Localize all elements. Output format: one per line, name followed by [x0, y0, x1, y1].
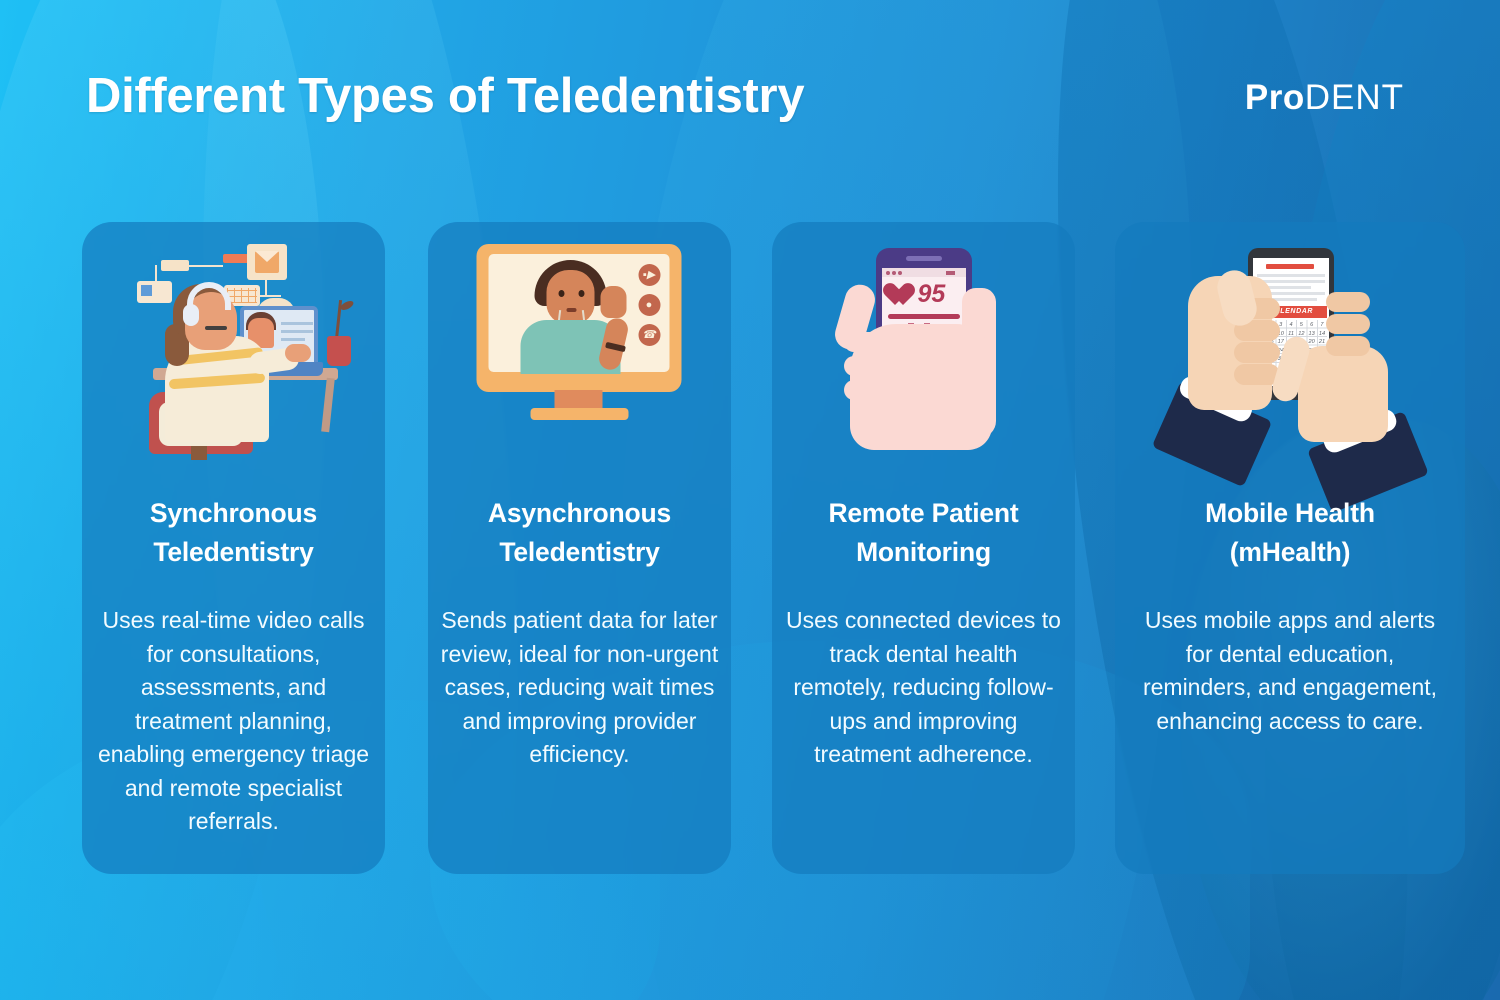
card-description: Uses mobile apps and alerts for dental e… — [1137, 604, 1443, 738]
heart-rate-value: 95 — [918, 280, 946, 309]
card-illustration — [82, 240, 385, 470]
hand-phone-heart-rate-icon: 95 — [834, 240, 1014, 455]
calendar-day: 5 — [1296, 321, 1306, 330]
card-title-line-1: Mobile Health — [1205, 498, 1375, 528]
card-title-line-1: Synchronous — [150, 498, 317, 528]
heart-icon — [889, 284, 915, 308]
card-title: Remote Patient Monitoring — [780, 494, 1067, 572]
card-illustration: 95 — [772, 240, 1075, 470]
card-asynchronous-teledentistry[interactable]: ▪▶ ● ☎ Asynchronous Teledentistry Sends … — [428, 222, 731, 874]
card-illustration: ▪▶ ● ☎ — [428, 240, 731, 470]
card-title: Asynchronous Teledentistry — [436, 494, 723, 572]
card-title: Synchronous Teledentistry — [90, 494, 377, 572]
desktop-video-call-icon: ▪▶ ● ☎ — [472, 240, 687, 430]
card-illustration: CALENDAR 1234567891011121314151617181920… — [1115, 240, 1465, 470]
woman-headset-laptop-icon — [109, 240, 359, 455]
card-title-line-1: Asynchronous — [488, 498, 671, 528]
calendar-day: 13 — [1307, 330, 1317, 339]
camera-icon: ▪▶ — [638, 264, 660, 286]
card-title-line-2: Monitoring — [856, 537, 991, 567]
card-title-line-2: Teledentistry — [153, 537, 313, 567]
brand-logo-pro: Pro — [1245, 78, 1305, 117]
calendar-day: 14 — [1317, 330, 1327, 339]
microphone-icon: ● — [638, 294, 660, 316]
card-title-line-2: Teledentistry — [499, 537, 659, 567]
card-synchronous-teledentistry[interactable]: Synchronous Teledentistry Uses real-time… — [82, 222, 385, 874]
brand-logo: ProDENT — [1245, 78, 1404, 118]
phone-icon: ☎ — [638, 324, 660, 346]
card-remote-patient-monitoring[interactable]: 95 Remote Patient Monitoring Uses connec… — [772, 222, 1075, 874]
calendar-day: 4 — [1286, 321, 1296, 330]
header: Different Types of Teledentistry ProDENT — [0, 0, 1500, 200]
card-title-line-1: Remote Patient — [828, 498, 1018, 528]
calendar-day: 6 — [1307, 321, 1317, 330]
card-title: Mobile Health (mHealth) — [1123, 494, 1457, 572]
page-title: Different Types of Teledentistry — [86, 68, 804, 124]
card-grid: Synchronous Teledentistry Uses real-time… — [0, 222, 1500, 874]
card-description: Uses real-time video calls for consultat… — [94, 604, 373, 839]
brand-logo-dent: DENT — [1305, 78, 1404, 117]
card-description: Sends patient data for later review, ide… — [440, 604, 719, 772]
card-mobile-health[interactable]: CALENDAR 1234567891011121314151617181920… — [1115, 222, 1465, 874]
hands-phone-calendar-icon: CALENDAR 1234567891011121314151617181920… — [1170, 240, 1410, 462]
card-title-line-2: (mHealth) — [1230, 537, 1350, 567]
card-description: Uses connected devices to track dental h… — [784, 604, 1063, 772]
